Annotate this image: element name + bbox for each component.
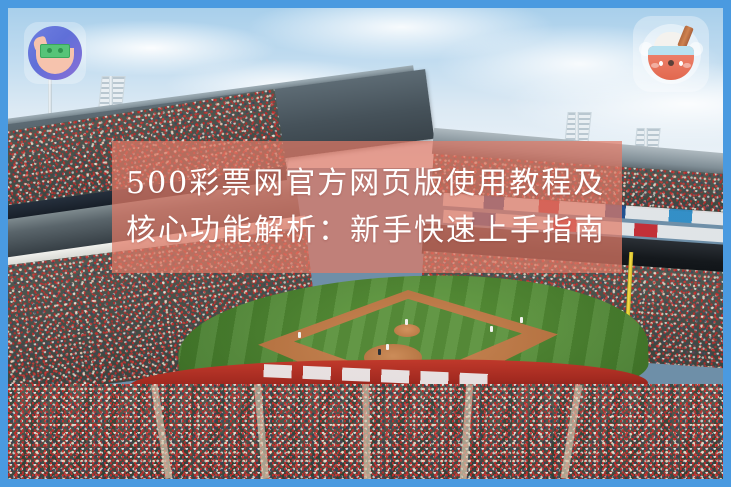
logo-disc bbox=[28, 26, 82, 80]
player-pitcher bbox=[405, 319, 408, 325]
player-outfield bbox=[520, 317, 523, 323]
blush-right bbox=[683, 63, 691, 68]
blush-left bbox=[651, 63, 659, 68]
nose bbox=[668, 60, 674, 66]
banknote-shape bbox=[40, 44, 70, 58]
title-overlay-panel: 500彩票网官方网页版使用教程及核心功能解析：新手快速上手指南 bbox=[112, 141, 622, 273]
player-thirdbase bbox=[298, 332, 301, 338]
eye-right bbox=[679, 61, 683, 66]
pitchers-mound bbox=[394, 324, 420, 337]
player-batter bbox=[386, 344, 389, 350]
headband bbox=[648, 46, 694, 55]
player-firstbase bbox=[490, 326, 493, 332]
eye-left bbox=[659, 61, 663, 66]
hero-stadium-photo: 500彩票网官方网页版使用教程及核心功能解析：新手快速上手指南 bbox=[8, 8, 723, 479]
money-in-hand-icon[interactable] bbox=[24, 22, 86, 84]
page-title: 500彩票网官方网页版使用教程及核心功能解析：新手快速上手指南 bbox=[126, 160, 608, 254]
article-thumbnail-card: 500彩票网官方网页版使用教程及核心功能解析：新手快速上手指南 bbox=[0, 0, 731, 487]
rice-bowl-mascot-icon[interactable] bbox=[633, 16, 709, 92]
player-umpire bbox=[378, 349, 381, 355]
